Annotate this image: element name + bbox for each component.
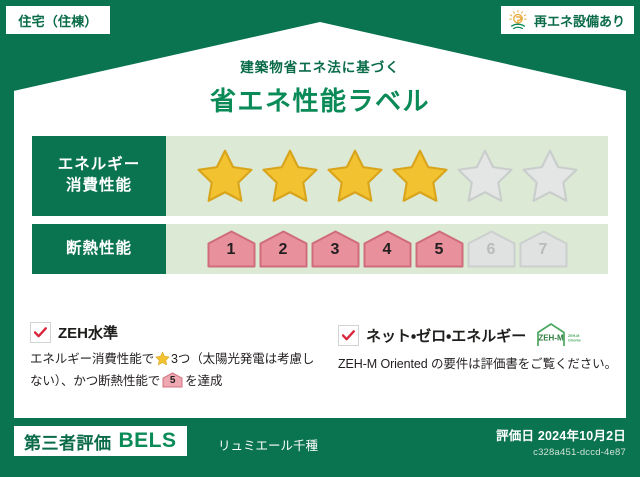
zeh-criteria-title: ZEH水準 — [58, 322, 118, 343]
nze-criteria-text: ZEH-M Oriented の要件は評価書をご覧ください。 — [338, 354, 620, 376]
star-filled-icon — [259, 146, 321, 206]
zeh-text-part3: を達成 — [185, 374, 222, 388]
inline-grade-value: 5 — [162, 376, 183, 386]
insulation-grade-value: 6 — [467, 242, 516, 258]
svg-text:ZEH-M: ZEH-M — [539, 334, 565, 343]
criteria-section: ZEH水準 エネルギー消費性能で3つ（太陽光発電は考慮しない）、かつ断熱性能で5… — [30, 322, 614, 392]
insulation-grade-value: 2 — [259, 242, 308, 258]
energy-label-line2: 消費性能 — [66, 176, 132, 197]
star-filled-icon — [324, 146, 386, 206]
renewable-energy-badge: 再エネ設備あり — [501, 6, 634, 34]
inline-star-icon — [155, 351, 170, 366]
svg-text:Oriented: Oriented — [568, 338, 581, 342]
check-icon — [342, 330, 355, 341]
zeh-criteria-header: ZEH水準 — [30, 322, 318, 343]
label-footer: 第三者評価 BELS リュミエール千種 評価日 2024年10月2日 c328a… — [0, 417, 640, 477]
nze-criteria-header: ネット・ゼロ・エネルギー ZEH-M ZEH-M Oriented — [338, 322, 620, 348]
evaluation-id: c328a451-dccd-4e87 — [496, 447, 626, 458]
third-party-label: 第三者評価 — [24, 429, 112, 454]
insulation-performance-label-box: 断熱性能 — [32, 224, 166, 274]
bels-certification-box: 第三者評価 BELS — [14, 426, 187, 456]
insulation-grade-value: 4 — [363, 242, 412, 258]
insulation-grade-5: 5 — [415, 230, 464, 268]
star-empty-icon — [454, 146, 516, 206]
check-icon — [34, 327, 47, 338]
zeh-text-part1: エネルギー消費性能で — [30, 352, 154, 366]
zeh-criteria-text: エネルギー消費性能で3つ（太陽光発電は考慮しない）、かつ断熱性能で5を達成 — [30, 349, 318, 392]
grade-strip: 1234567 — [207, 230, 568, 268]
label-title-block: 建築物省エネ法に基づく 省エネ性能ラベル — [0, 56, 640, 118]
title-subtitle: 建築物省エネ法に基づく — [0, 56, 640, 76]
insulation-grade-rating: 1234567 — [166, 224, 608, 274]
star-filled-icon — [389, 146, 451, 206]
property-name: リュミエール千種 — [218, 435, 318, 454]
energy-star-rating — [166, 136, 608, 216]
insulation-grade-3: 3 — [311, 230, 360, 268]
zeh-checkbox — [30, 322, 51, 343]
insulation-grade-1: 1 — [207, 230, 256, 268]
zeh-star-count: 3つ — [171, 352, 190, 366]
nze-checkbox — [338, 325, 359, 346]
zeh-criteria-column: ZEH水準 エネルギー消費性能で3つ（太陽光発電は考慮しない）、かつ断熱性能で5… — [30, 322, 318, 392]
bels-label: BELS — [119, 429, 177, 453]
energy-label-line1: エネルギー — [58, 155, 141, 176]
insulation-label: 断熱性能 — [66, 239, 132, 260]
category-tag-label: 住宅（住棟） — [18, 11, 97, 30]
energy-performance-row: エネルギー 消費性能 — [32, 136, 608, 216]
evaluation-date: 評価日 2024年10月2日 — [496, 425, 626, 444]
star-empty-icon — [519, 146, 581, 206]
star-filled-icon — [194, 146, 256, 206]
evaluation-info: 評価日 2024年10月2日 c328a451-dccd-4e87 — [496, 425, 626, 458]
title-main: 省エネ性能ラベル — [0, 81, 640, 118]
inline-grade-badge: 5 — [162, 372, 183, 388]
svg-text:ZEH-M: ZEH-M — [568, 334, 579, 338]
insulation-grade-7: 7 — [519, 230, 568, 268]
performance-rows: エネルギー 消費性能 断熱性能 1234567 — [32, 136, 608, 282]
zeh-m-oriented-logo: ZEH-M ZEH-M Oriented — [535, 322, 581, 348]
solar-sun-icon — [507, 9, 529, 31]
category-tag: 住宅（住棟） — [6, 6, 110, 34]
insulation-grade-value: 1 — [207, 242, 256, 258]
renewable-badge-label: 再エネ設備あり — [534, 11, 625, 30]
insulation-grade-2: 2 — [259, 230, 308, 268]
insulation-grade-4: 4 — [363, 230, 412, 268]
insulation-grade-value: 3 — [311, 242, 360, 258]
nze-criteria-column: ネット・ゼロ・エネルギー ZEH-M ZEH-M Oriented ZEH-M … — [332, 322, 620, 392]
insulation-performance-row: 断熱性能 1234567 — [32, 224, 608, 274]
energy-performance-label: 住宅（住棟） 再エネ設備あり 建築物省エネ法に基づく 省エネ性能ラベル — [0, 0, 640, 477]
energy-performance-label-box: エネルギー 消費性能 — [32, 136, 166, 216]
nze-criteria-title: ネット・ゼロ・エネルギー — [366, 325, 526, 346]
insulation-grade-value: 7 — [519, 242, 568, 258]
insulation-grade-6: 6 — [467, 230, 516, 268]
insulation-grade-value: 5 — [415, 242, 464, 258]
star-strip — [194, 146, 581, 206]
